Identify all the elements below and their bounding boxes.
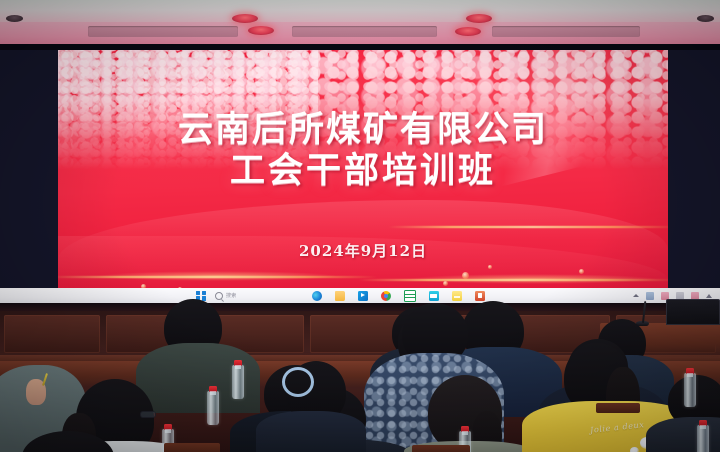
laptop <box>666 299 720 325</box>
water-bottle <box>207 391 219 425</box>
slide-title: 云南后所煤矿有限公司 工会干部培训班 <box>58 110 668 192</box>
bokeh-dot <box>443 281 448 286</box>
slide-date: 2024年9月12日 <box>58 240 668 261</box>
room-interior: Jolie a deux <box>0 303 720 452</box>
slide-title-line2: 工会干部培训班 <box>58 151 668 192</box>
presentation-slide: 云南后所煤矿有限公司 工会干部培训班 2024年9月12日 <box>58 50 668 288</box>
ceiling-vent <box>492 26 640 37</box>
wall-trim <box>0 303 720 311</box>
bottle-neck <box>210 391 216 395</box>
ceiling-downlight <box>248 26 274 35</box>
notification-icon[interactable] <box>706 294 712 298</box>
media-player-icon[interactable] <box>358 291 368 301</box>
water-bottle <box>697 425 709 452</box>
chair-back <box>412 445 470 452</box>
led-screen-wall: 云南后所煤矿有限公司 工会干部培训班 2024年9月12日 <box>0 44 720 288</box>
ceiling-downlight <box>232 14 258 23</box>
mail-icon[interactable] <box>429 291 439 301</box>
file-explorer-icon[interactable] <box>335 291 345 301</box>
water-bottle <box>684 373 696 407</box>
search-placeholder: 搜索 <box>226 292 237 299</box>
gold-highlight-line <box>388 226 668 228</box>
gold-glow <box>98 271 338 281</box>
bokeh-dot <box>488 265 492 269</box>
windows-taskbar: 搜索 <box>0 288 720 303</box>
spreadsheet-icon[interactable] <box>404 290 416 302</box>
network-icon[interactable] <box>646 292 654 300</box>
ceiling-vent <box>292 26 437 37</box>
ceiling-downlight <box>466 14 492 23</box>
head <box>22 431 114 452</box>
ceiling-downlight <box>455 27 481 36</box>
blue-hairband <box>282 367 314 397</box>
conference-room-photo: 云南后所煤矿有限公司 工会干部培训班 2024年9月12日 搜索 <box>0 0 720 452</box>
chair-back <box>164 443 220 452</box>
audience-member <box>22 431 122 452</box>
ceiling-vent <box>88 26 238 37</box>
bottle-neck <box>462 431 468 435</box>
chrome-icon[interactable] <box>381 291 391 301</box>
chair-back <box>596 403 640 413</box>
water-bottle <box>232 365 244 399</box>
wall-panel <box>4 315 100 353</box>
bottle-neck <box>687 373 693 377</box>
presentation-icon[interactable] <box>475 291 485 301</box>
notes-icon[interactable] <box>452 291 462 301</box>
bokeh-dot <box>579 269 584 274</box>
torso <box>256 411 366 452</box>
bottle-neck <box>235 365 241 369</box>
bokeh-dot <box>462 272 469 279</box>
slide-title-line1: 云南后所煤矿有限公司 <box>58 110 668 151</box>
bottle-neck <box>700 425 706 429</box>
embroidered-flower <box>630 447 639 452</box>
audience-member-hairband <box>262 361 360 452</box>
glasses <box>140 411 156 418</box>
bottle-neck <box>165 429 171 433</box>
show-hidden-icons-icon[interactable] <box>633 294 639 297</box>
edge-icon[interactable] <box>312 291 322 301</box>
ceiling <box>0 0 720 46</box>
ceiling-speaker <box>697 15 714 22</box>
ceiling-speaker <box>6 15 23 22</box>
